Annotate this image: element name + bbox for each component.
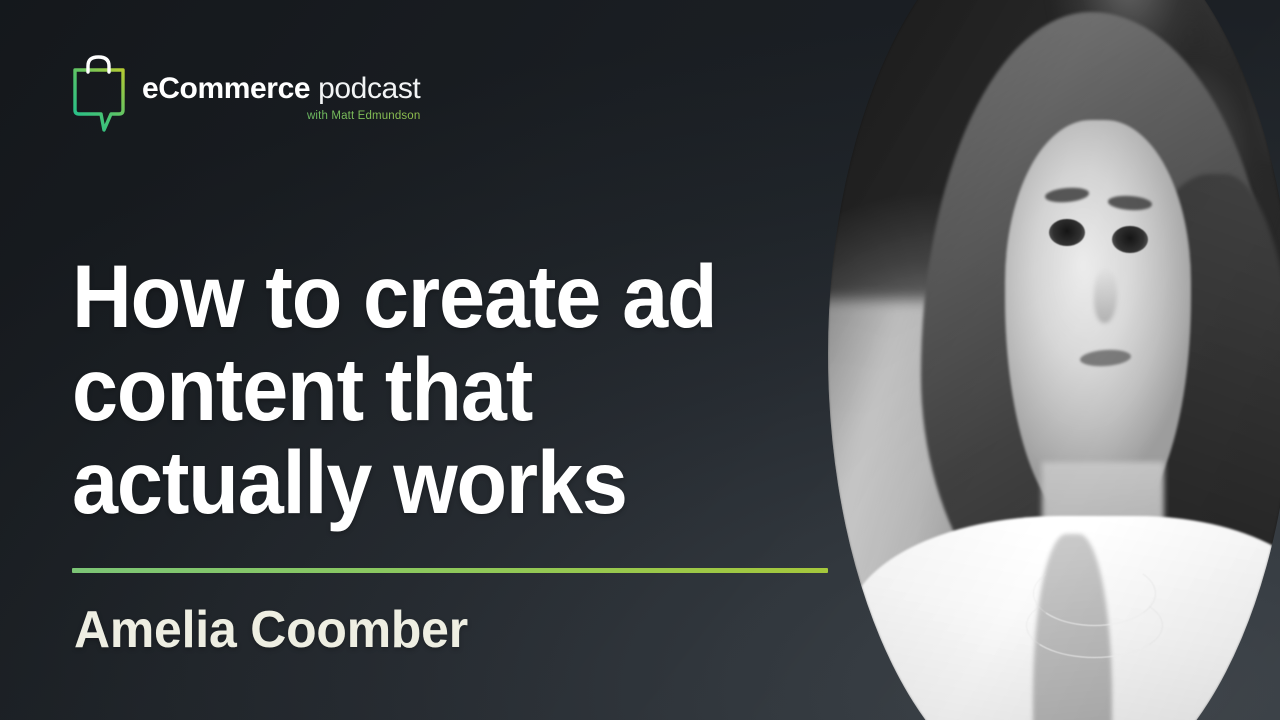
podcast-thumbnail: eCommerce podcast with Matt Edmundson Ho… bbox=[0, 0, 1280, 720]
episode-title-line-2: content that bbox=[72, 343, 779, 436]
brand-tagline: with Matt Edmundson bbox=[142, 110, 420, 122]
episode-title: How to create ad content that actually w… bbox=[72, 250, 832, 529]
episode-title-line-3: actually works bbox=[72, 436, 779, 529]
guest-name: Amelia Coomber bbox=[74, 601, 468, 659]
brand-wordmark: eCommerce podcast with Matt Edmundson bbox=[142, 52, 420, 122]
brand-title: eCommerce podcast bbox=[142, 74, 420, 105]
brand-title-bold: eCommerce bbox=[142, 72, 310, 105]
shopping-bag-speech-bubble-icon bbox=[68, 52, 130, 138]
guest-photo-image bbox=[828, 0, 1280, 720]
photo-color-grade bbox=[828, 0, 1280, 720]
accent-divider bbox=[72, 568, 828, 573]
brand-title-light: podcast bbox=[310, 72, 420, 105]
guest-photo bbox=[828, 0, 1280, 720]
brand-logo: eCommerce podcast with Matt Edmundson bbox=[68, 52, 420, 138]
episode-title-line-1: How to create ad bbox=[72, 250, 779, 343]
